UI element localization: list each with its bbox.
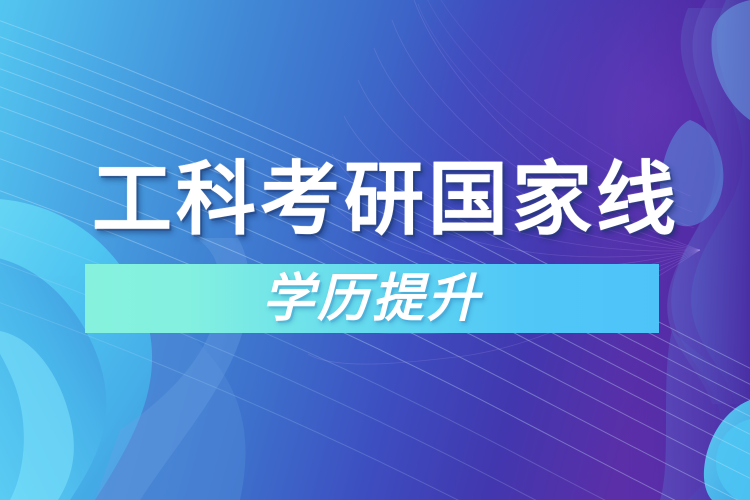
banner-content: 工科考研国家线 学历提升 bbox=[0, 0, 750, 500]
subtitle-label: 学历提升 bbox=[85, 264, 659, 333]
promo-banner: 工科考研国家线 学历提升 bbox=[0, 0, 750, 500]
page-title: 工科考研国家线 bbox=[92, 152, 662, 248]
